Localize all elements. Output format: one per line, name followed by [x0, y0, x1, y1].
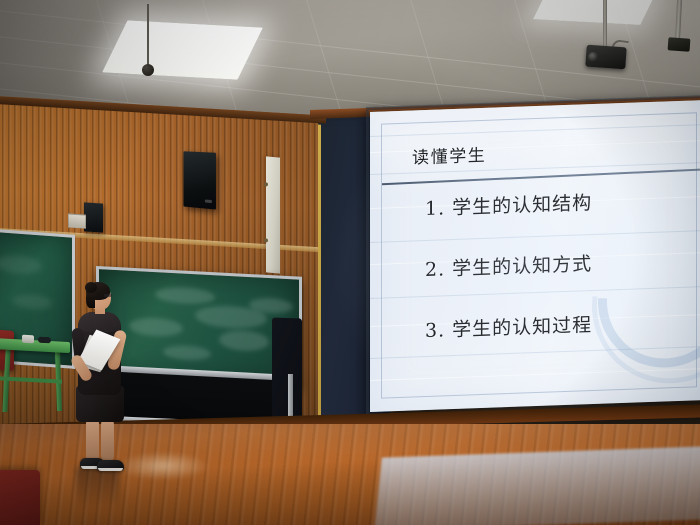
slide-title: 读懂学生 — [412, 141, 486, 169]
ceiling-projector-2 — [668, 37, 691, 52]
wall-speaker — [183, 151, 216, 209]
wall-white-panel-strip — [266, 156, 280, 273]
projector-mount-pole — [603, 0, 607, 48]
presenter-shoulders — [78, 312, 121, 332]
presenter-shoe-right — [97, 460, 124, 471]
microphone-wire — [147, 4, 149, 66]
hanging-microphone-icon — [142, 64, 154, 76]
ceiling-light-panel — [102, 20, 263, 79]
projection-screen-surface: 读懂学生 1. 学生的认知结构 2. 学生的认知方式 3. 学生的认知过程 — [370, 100, 700, 412]
classroom-scene: 读懂学生 1. 学生的认知结构 2. 学生的认知方式 3. 学生的认知过程 — [0, 0, 700, 525]
slide-bullet-item: 3. 学生的认知过程 — [370, 306, 700, 345]
presenter-glasses-icon — [104, 294, 112, 297]
wall-control-plate[interactable] — [68, 213, 86, 228]
presenter-leg-left — [86, 418, 99, 462]
slide-bullet-item: 2. 学生的认知方式 — [370, 245, 700, 284]
slide-bullet-list: 1. 学生的认知结构 2. 学生的认知方式 3. 学生的认知过程 — [370, 184, 700, 379]
desk-object-remote — [38, 337, 51, 344]
wall-speaker-small — [84, 202, 103, 232]
foreground-red-chair — [0, 470, 40, 525]
chalkboard-side-cloth — [272, 317, 302, 428]
presenter — [64, 282, 136, 478]
desk-object-paper — [22, 335, 34, 344]
projection-screen: 读懂学生 1. 学生的认知结构 2. 学生的认知方式 3. 学生的认知过程 — [370, 100, 700, 414]
presenter-hair-bun — [85, 282, 97, 293]
presenter-leg-right — [101, 419, 114, 461]
